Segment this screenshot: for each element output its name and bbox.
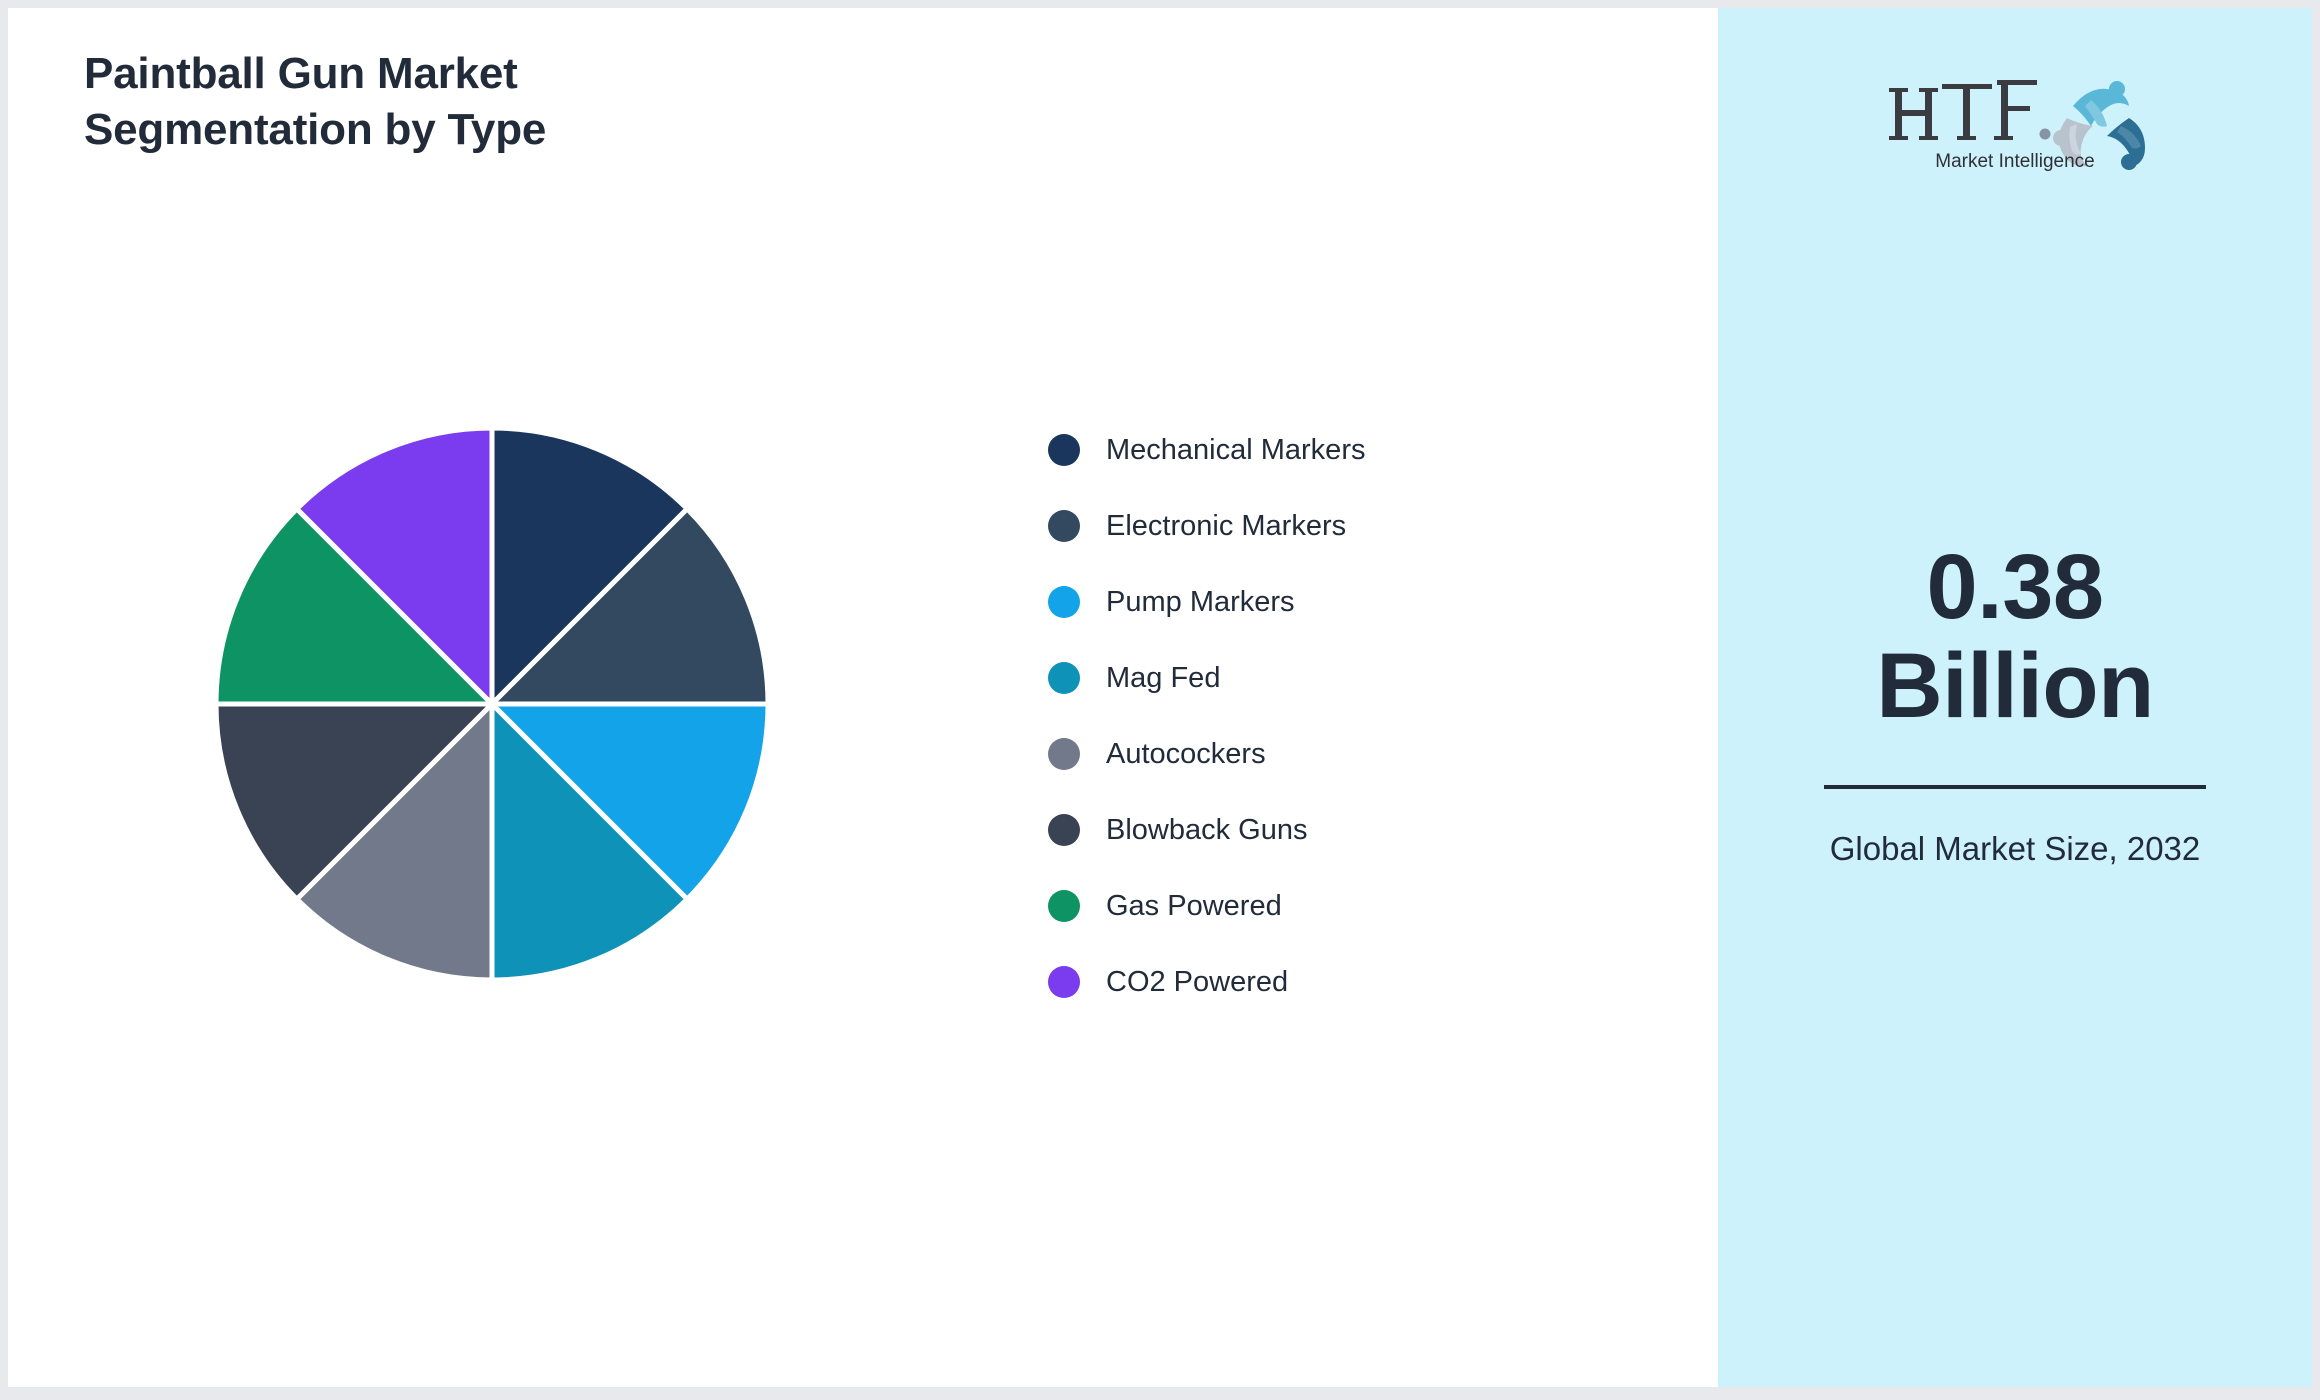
side-panel: Market Intelligence 0.38 Billion Global … [1718,8,2312,1387]
infographic-card: Paintball Gun Market Segmentation by Typ… [8,8,2312,1387]
page-title: Paintball Gun Market Segmentation by Typ… [84,46,1084,159]
legend-item[interactable]: Mechanical Markers [1048,412,1608,488]
legend-swatch-icon [1048,890,1080,922]
legend-item[interactable]: Autocockers [1048,716,1608,792]
chart-legend: Mechanical MarkersElectronic MarkersPump… [1048,412,1608,1020]
legend-swatch-icon [1048,814,1080,846]
legend-item-label: Gas Powered [1106,892,1282,921]
market-size-caption: Global Market Size, 2032 [1718,827,2312,872]
legend-item[interactable]: Mag Fed [1048,640,1608,716]
main-panel: Paintball Gun Market Segmentation by Typ… [8,8,1718,1387]
legend-item-label: Mechanical Markers [1106,436,1365,465]
legend-swatch-icon [1048,586,1080,618]
logo-icon: Market Intelligence [1885,66,2145,178]
legend-item-label: Blowback Guns [1106,816,1308,845]
legend-swatch-icon [1048,966,1080,998]
legend-item-label: CO2 Powered [1106,968,1288,997]
legend-item-label: Autocockers [1106,740,1266,769]
legend-swatch-icon [1048,510,1080,542]
legend-swatch-icon [1048,434,1080,466]
legend-item-label: Pump Markers [1106,588,1295,617]
legend-item[interactable]: Blowback Guns [1048,792,1608,868]
legend-item[interactable]: Gas Powered [1048,868,1608,944]
pie-chart-svg [208,420,776,988]
legend-swatch-icon [1048,738,1080,770]
htf-market-intelligence-logo: Market Intelligence [1885,66,2145,178]
stat-divider [1824,785,2206,789]
stat-block: 0.38 Billion Global Market Size, 2032 [1718,538,2312,871]
legend-item-label: Mag Fed [1106,664,1220,693]
legend-item[interactable]: Electronic Markers [1048,488,1608,564]
market-size-value: 0.38 Billion [1718,538,2312,737]
legend-item[interactable]: CO2 Powered [1048,944,1608,1020]
logo-tagline: Market Intelligence [1935,151,2094,172]
pie-chart [208,420,776,988]
legend-item[interactable]: Pump Markers [1048,564,1608,640]
legend-swatch-icon [1048,662,1080,694]
legend-item-label: Electronic Markers [1106,512,1346,541]
